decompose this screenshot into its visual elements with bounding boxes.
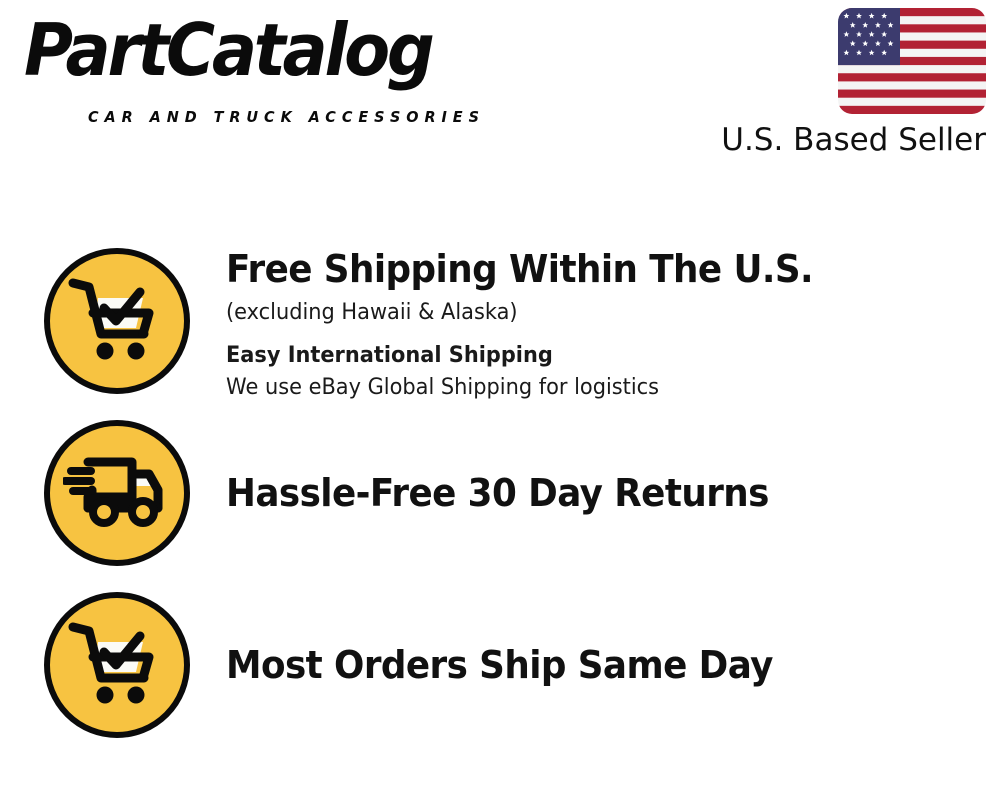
shopping-cart-check-icon [44,592,190,738]
feature-row-same-day-ship: Most Orders Ship Same Day [0,592,1000,738]
feature-text-block: Most Orders Ship Same Day [226,592,1000,738]
feature-text-block: Free Shipping Within The U.S. (excluding… [226,248,1000,403]
seller-badge-label: U.S. Based Seller [716,122,986,158]
feature-row-free-shipping: Free Shipping Within The U.S. (excluding… [0,248,1000,403]
shopping-cart-check-glyph [65,271,169,371]
shopping-cart-check-glyph [65,615,169,715]
us-flag-icon [838,8,986,114]
us-based-seller-badge: U.S. Based Seller [716,8,986,158]
feature-subtitle-exclusions: (excluding Hawaii & Alaska) [226,298,961,328]
delivery-truck-glyph [63,450,171,536]
brand-wordmark: PartCatalog [24,14,432,86]
promo-banner: PartCatalog CAR AND TRUCK ACCESSORIES [0,0,1000,800]
feature-subtitle-logistics: We use eBay Global Shipping for logistic… [226,373,961,403]
feature-title: Free Shipping Within The U.S. [226,248,954,291]
feature-title: Most Orders Ship Same Day [226,644,954,687]
feature-title: Hassle-Free 30 Day Returns [226,472,954,515]
delivery-truck-icon [44,420,190,566]
brand-tagline: CAR AND TRUCK ACCESSORIES [88,108,485,126]
feature-text-block: Hassle-Free 30 Day Returns [226,420,1000,566]
feature-row-returns: Hassle-Free 30 Day Returns [0,420,1000,566]
shopping-cart-check-icon [44,248,190,394]
brand-logo: PartCatalog CAR AND TRUCK ACCESSORIES [24,18,494,118]
feature-subtitle-international: Easy International Shipping [226,341,961,371]
